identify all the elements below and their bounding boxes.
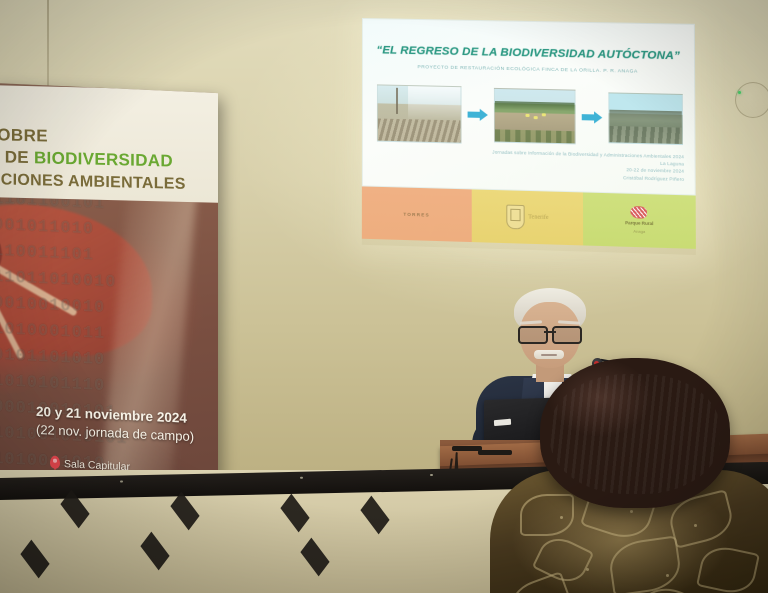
anaga-leaf-icon <box>631 206 648 219</box>
right-arrow-icon-2 <box>582 111 603 124</box>
sponsor-cabildo-tenerife: Tenerife <box>472 189 583 245</box>
audience-member-foreground <box>496 358 768 593</box>
banner-heading-highlight: BIODIVERSIDAD <box>34 148 173 170</box>
slide-title: “EL REGRESO DE LA BIODIVERSIDAD AUTÓCTON… <box>363 44 694 63</box>
banner-heading-line-3: STRACIONES AMBIENTALES <box>0 170 186 194</box>
glasses-icon <box>518 326 582 341</box>
sponsor-parque-rural-anaga: Parque Rural Anaga <box>583 192 696 248</box>
right-arrow-icon <box>468 109 488 122</box>
photo-ridge <box>495 101 575 111</box>
audience-member-hair <box>540 358 730 508</box>
slide-photo-after <box>608 92 683 145</box>
sponsor-torres-label: TORRES <box>403 211 429 217</box>
photo-vegetation <box>610 126 682 144</box>
photo-scrub <box>495 129 575 143</box>
banner-heading-line-2-pre: CIÓN DE <box>0 146 34 167</box>
conference-room-photo: “EL REGRESO DE LA BIODIVERSIDAD AUTÓCTON… <box>0 0 768 593</box>
sensor-led-icon <box>738 91 741 94</box>
sponsor-tenerife-label: Tenerife <box>528 214 548 221</box>
banner-heading-line-1: AS SOBRE <box>0 124 48 146</box>
slide-subtitle: PROYECTO DE RESTAURACIÓN ECOLÓGICA FINCA… <box>363 64 694 76</box>
photo-logs <box>378 118 461 142</box>
slide-photo-before <box>377 84 462 143</box>
slide-body: “EL REGRESO DE LA BIODIVERSIDAD AUTÓCTON… <box>362 18 696 196</box>
banner-heading-line-2: CIÓN DE BIODIVERSIDAD <box>0 146 173 171</box>
photo-pole <box>396 87 398 113</box>
banner-heading-block: AS SOBRE CIÓN DE BIODIVERSIDAD STRACIONE… <box>0 85 218 203</box>
tenerife-crest-icon <box>506 205 524 230</box>
photo-haze <box>408 86 460 121</box>
sponsor-anaga-sub: Anaga <box>633 229 645 235</box>
map-pin-icon <box>50 456 60 469</box>
slide-photo-sequence <box>377 81 683 151</box>
sponsor-torres: TORRES <box>362 186 472 242</box>
slide-photo-during <box>494 88 576 145</box>
photo-hillside <box>609 110 681 122</box>
projected-slide: “EL REGRESO DE LA BIODIVERSIDAD AUTÓCTON… <box>362 18 696 255</box>
wall-sensor-icon <box>735 82 768 118</box>
slide-sponsor-band: TORRES Tenerife Parque Rural Anaga <box>362 186 696 248</box>
sponsor-anaga-label: Parque Rural <box>625 220 653 227</box>
slide-footer: Jornadas sobre Información de la Biodive… <box>388 146 684 183</box>
